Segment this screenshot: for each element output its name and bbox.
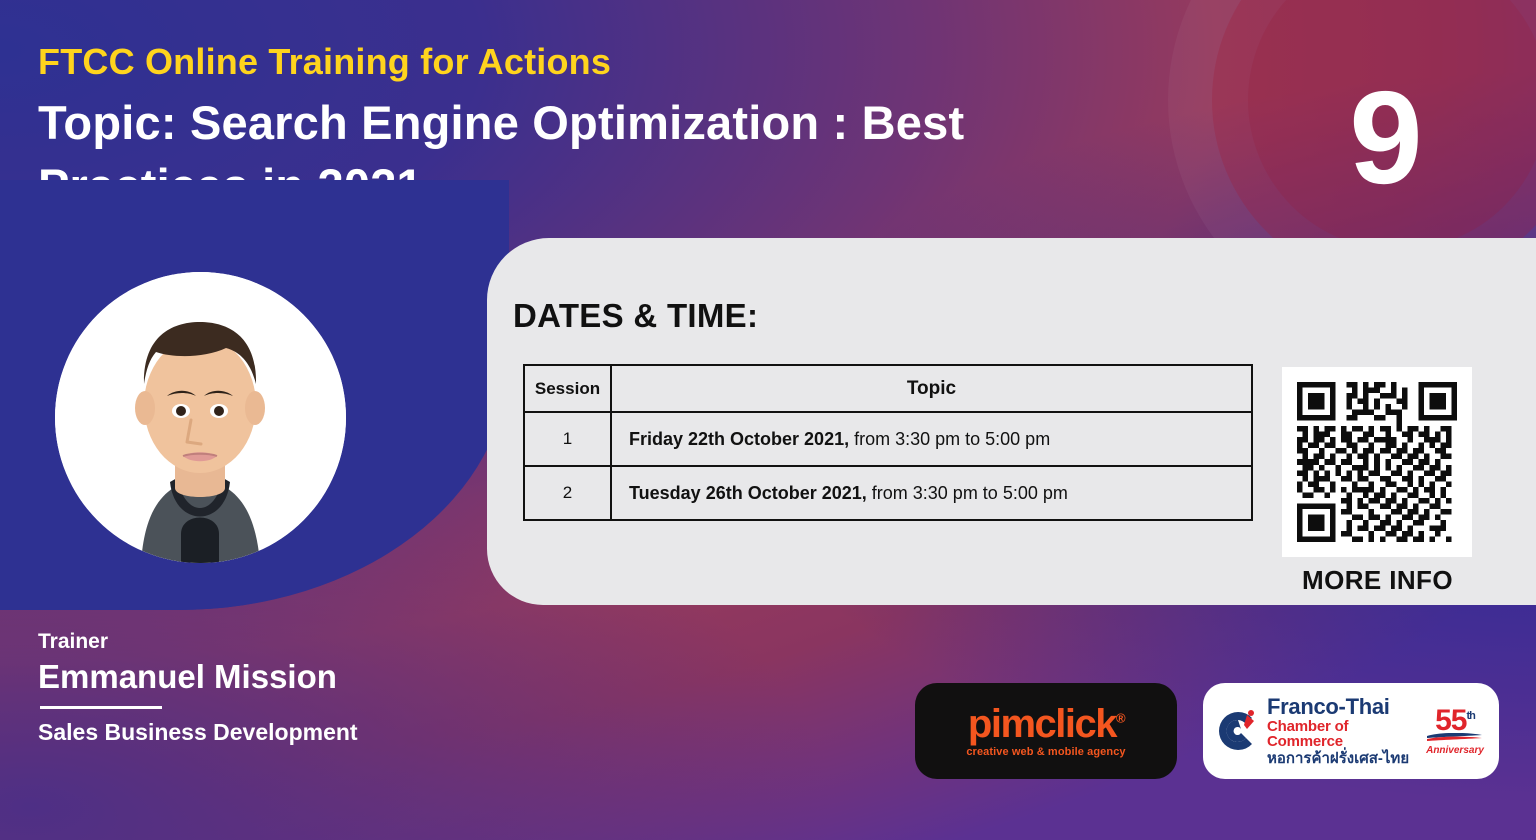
ftcc-anniversary: 55th Anniversary <box>1424 706 1486 756</box>
column-header-session: Session <box>524 365 611 412</box>
qr-code[interactable] <box>1282 367 1472 557</box>
ftcc-thai-name: หอการค้าฝรั่งเศส-ไทย <box>1267 751 1422 766</box>
schedule-table: Session Topic 1 Friday 22th October 2021… <box>523 364 1253 521</box>
cell-topic-time: from 3:30 pm to 5:00 pm <box>849 429 1050 449</box>
cell-topic-date: Friday 22th October 2021, <box>629 429 849 449</box>
table-row: 2 Tuesday 26th October 2021, from 3:30 p… <box>524 466 1252 520</box>
cell-session: 2 <box>524 466 611 520</box>
program-kicker: FTCC Online Training for Actions <box>38 42 938 82</box>
cell-topic: Tuesday 26th October 2021, from 3:30 pm … <box>611 466 1252 520</box>
ftcc-emblem-icon <box>1216 709 1260 753</box>
ftcc-text-block: Franco-Thai Chamber of Commerce หอการค้า… <box>1267 696 1422 766</box>
cell-session: 1 <box>524 412 611 466</box>
anniversary-number: 55th <box>1424 706 1486 736</box>
cell-topic-date: Tuesday 26th October 2021, <box>629 483 867 503</box>
pimclick-logo[interactable]: pimclick® creative web & mobile agency <box>915 683 1177 779</box>
anniversary-ordinal: th <box>1466 710 1474 722</box>
session-number-badge: 9 <box>1310 58 1460 218</box>
trainer-label: Trainer <box>38 628 498 656</box>
ftcc-logo[interactable]: Franco-Thai Chamber of Commerce หอการค้า… <box>1203 683 1499 779</box>
anniversary-waves-icon <box>1426 733 1484 744</box>
ftcc-name: Franco-Thai <box>1267 696 1422 718</box>
table-header-row: Session Topic <box>524 365 1252 412</box>
trainer-info: Trainer Emmanuel Mission Sales Business … <box>38 628 498 748</box>
cell-topic-time: from 3:30 pm to 5:00 pm <box>867 483 1068 503</box>
column-header-topic: Topic <box>611 365 1252 412</box>
qr-caption: MORE INFO <box>1270 565 1485 596</box>
training-announcement-banner: 9 FTCC Online Training for Actions Topic… <box>0 0 1536 840</box>
table-row: 1 Friday 22th October 2021, from 3:30 pm… <box>524 412 1252 466</box>
ftcc-subtitle: Chamber of Commerce <box>1267 719 1422 749</box>
pimclick-word-text: pimclick <box>968 702 1116 746</box>
avatar <box>55 272 346 563</box>
trainer-role: Sales Business Development <box>38 718 498 748</box>
pimclick-wordmark: pimclick® <box>968 704 1124 744</box>
trainer-name: Emmanuel Mission <box>38 656 498 704</box>
schedule-section-title: DATES & TIME: <box>513 297 758 335</box>
anniversary-label: Anniversary <box>1424 745 1486 756</box>
registered-mark-icon: ® <box>1116 711 1124 726</box>
pimclick-tagline: creative web & mobile agency <box>966 746 1125 758</box>
cell-topic: Friday 22th October 2021, from 3:30 pm t… <box>611 412 1252 466</box>
trainer-divider <box>40 706 162 709</box>
